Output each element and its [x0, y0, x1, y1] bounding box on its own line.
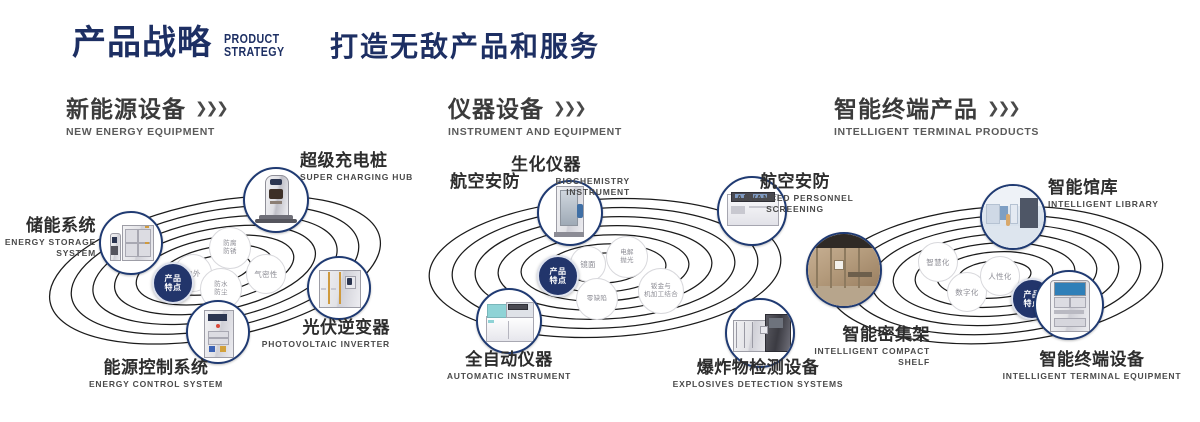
kiosk-terminal-icon [1036, 272, 1102, 338]
pv-inverter-icon [309, 258, 369, 318]
core-badge-line2: 特点 [165, 283, 182, 292]
feature-bubble-label: 智慧化 [926, 258, 949, 267]
product-label-cn: 生化仪器 [458, 155, 634, 174]
product-label-energy-control: 能源控制系统 ENERGY CONTROL SYSTEM [26, 358, 286, 390]
feature-bubble-label: 人性化 [988, 272, 1011, 281]
product-bubble-compact-shelf[interactable] [806, 232, 882, 308]
product-bubble-terminal-equipment[interactable] [1034, 270, 1104, 340]
core-badge-instrument: 产品 特点 [537, 255, 579, 297]
storage-cabinet-icon [101, 213, 161, 273]
product-label-compact-shelf: 智能密集架 INTELLIGENT COMPACT SHELF [770, 325, 930, 368]
product-bubble-pv-inverter[interactable] [307, 256, 371, 320]
product-label-en-line1: ENERGY CONTROL SYSTEM [26, 379, 286, 390]
feature-bubble-label: 防腐 防锈 [223, 240, 237, 256]
feature-bubble-sheetmetal-machining: 钣金与 机加工结合 [638, 268, 684, 314]
core-badge-text: 产品 特点 [550, 267, 567, 286]
product-label-cn: 智能馆库 [1048, 178, 1159, 197]
cluster-intelligent-terminal: 智慧化 数字化 人性化 产品 特点 [790, 0, 1200, 422]
feature-bubble-label: 防水 防尘 [214, 281, 228, 297]
feature-bubble-label: 钣金与 机加工结合 [644, 283, 678, 299]
cluster-new-energy: 户外 防腐 防锈 防水 防尘 气密性 产品 特点 [0, 0, 420, 422]
product-label-en-line1: INTELLIGENT TERMINAL EQUIPMENT [992, 371, 1192, 382]
product-label-intelligent-library: 智能馆库 INTELLIGENT LIBRARY [1048, 178, 1159, 210]
product-label-energy-storage: 储能系统 ENERGY STORAGE SYSTEM [0, 216, 96, 259]
feature-bubble-label: 数字化 [955, 288, 978, 297]
product-label-cn: 超级充电桩 [300, 151, 413, 170]
feature-bubble-label: 气密性 [254, 270, 277, 279]
feature-bubble-anticorrosion: 防腐 防锈 [209, 227, 251, 269]
core-badge-line2: 特点 [550, 276, 567, 285]
library-room-icon [982, 186, 1044, 248]
product-bubble-energy-storage[interactable] [99, 211, 163, 275]
core-badge-line1: 产品 [165, 274, 182, 283]
feature-bubble-airtight: 气密性 [246, 254, 286, 294]
product-label-cn: 能源控制系统 [26, 358, 286, 377]
product-label-cn: 储能系统 [0, 216, 96, 235]
product-label-terminal-equipment: 智能终端设备 INTELLIGENT TERMINAL EQUIPMENT [992, 350, 1192, 382]
core-badge-line1: 产品 [550, 267, 567, 276]
compact-shelf-icon [808, 234, 880, 306]
product-label-en-line2: SHELF [770, 357, 930, 368]
product-label-cn: 智能密集架 [770, 325, 930, 344]
auto-analyzer-icon [478, 290, 540, 352]
product-label-cn: 全自动仪器 [424, 350, 594, 369]
product-label-en-line1: AUTOMATIC INSTRUMENT [424, 371, 594, 382]
product-label-automatic-instrument: 全自动仪器 AUTOMATIC INSTRUMENT [424, 350, 594, 382]
product-label-cn: 光伏逆变器 [190, 318, 390, 337]
product-label-cn: 智能终端设备 [992, 350, 1192, 369]
product-label-en-line1: INTELLIGENT LIBRARY [1048, 199, 1159, 210]
feature-bubble-label: 镜面 [580, 260, 596, 269]
core-badge-text: 产品 特点 [165, 274, 182, 293]
product-label-en-line2: SYSTEM [0, 248, 96, 259]
product-label-en-line2: INSTRUMENT [458, 187, 634, 198]
product-label-pv-inverter: 光伏逆变器 PHOTOVOLTAIC INVERTER [190, 318, 390, 350]
poster-canvas: 产品战略 PRODUCT STRATEGY 打造无敌产品和服务 新能源设备 ❯❯… [0, 0, 1200, 422]
feature-bubble-zero-defect: 零缺陷 [576, 278, 618, 320]
feature-bubble-label: 零缺陷 [587, 295, 607, 303]
product-bubble-automatic-instrument[interactable] [476, 288, 542, 354]
feature-bubble-electropolish: 电解 抛光 [606, 236, 648, 278]
product-label-en-line1: PHOTOVOLTAIC INVERTER [190, 339, 390, 350]
product-bubble-intelligent-library[interactable] [980, 184, 1046, 250]
feature-bubble-label: 电解 抛光 [620, 249, 634, 265]
product-label-biochemistry: 生化仪器 BIOCHEMISTRY INSTRUMENT [458, 155, 634, 198]
product-label-en-line1: INTELLIGENT COMPACT [770, 346, 930, 357]
product-label-en-line1: ENERGY STORAGE [0, 237, 96, 248]
cluster-instrument: 镜面 电解 抛光 零缺陷 钣金与 机加工结合 产品 特点 [400, 0, 820, 422]
feature-bubble-intelligentization: 智慧化 [918, 242, 958, 282]
product-label-en-line1: BIOCHEMISTRY [458, 176, 634, 187]
charging-pile-icon [245, 169, 307, 231]
